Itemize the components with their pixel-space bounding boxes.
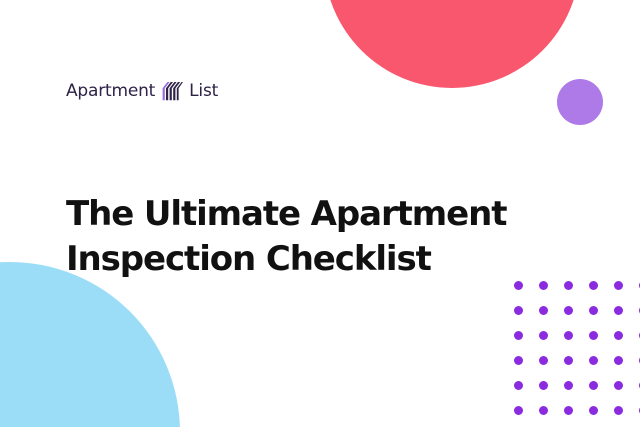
- dot-grid-row: [514, 381, 640, 406]
- brand-logo[interactable]: Apartment List: [66, 76, 218, 106]
- dot: [614, 281, 623, 290]
- dot: [539, 406, 548, 415]
- dot: [564, 406, 573, 415]
- dot: [539, 356, 548, 365]
- dot: [514, 306, 523, 315]
- apartment-list-house-icon: [160, 79, 184, 103]
- dot: [564, 331, 573, 340]
- dot: [539, 381, 548, 390]
- dot: [514, 281, 523, 290]
- dot: [614, 356, 623, 365]
- dot: [539, 331, 548, 340]
- dot: [564, 381, 573, 390]
- dot-grid-row: [514, 406, 640, 427]
- dot: [564, 356, 573, 365]
- dot: [589, 281, 598, 290]
- dot: [514, 406, 523, 415]
- dot: [614, 306, 623, 315]
- brand-name-second: List: [189, 83, 218, 100]
- dot: [614, 406, 623, 415]
- dot: [589, 406, 598, 415]
- dot: [614, 331, 623, 340]
- dot: [589, 381, 598, 390]
- dot: [614, 381, 623, 390]
- brand-name-first: Apartment: [66, 83, 155, 100]
- dot: [589, 331, 598, 340]
- red-semicircle-decoration: [324, 0, 580, 88]
- purple-circle-decoration: [557, 79, 603, 125]
- blue-quarter-circle-decoration: [0, 262, 180, 427]
- dot: [589, 306, 598, 315]
- dot-grid-row: [514, 331, 640, 356]
- dot-grid-row: [514, 356, 640, 381]
- dot: [514, 331, 523, 340]
- page-title-line-2: Inspection Checklist: [66, 237, 536, 282]
- dot: [514, 356, 523, 365]
- dot-grid-decoration: [514, 281, 640, 427]
- dot-grid-row: [514, 281, 640, 306]
- dot: [589, 356, 598, 365]
- page-title-line-1: The Ultimate Apartment: [66, 192, 536, 237]
- dot: [539, 281, 548, 290]
- cover-canvas: Apartment List The Ultimate Apartment In…: [0, 0, 640, 427]
- dot: [514, 381, 523, 390]
- page-title: The Ultimate Apartment Inspection Checkl…: [66, 192, 536, 282]
- dot-grid-row: [514, 306, 640, 331]
- dot: [564, 281, 573, 290]
- dot: [564, 306, 573, 315]
- dot: [539, 306, 548, 315]
